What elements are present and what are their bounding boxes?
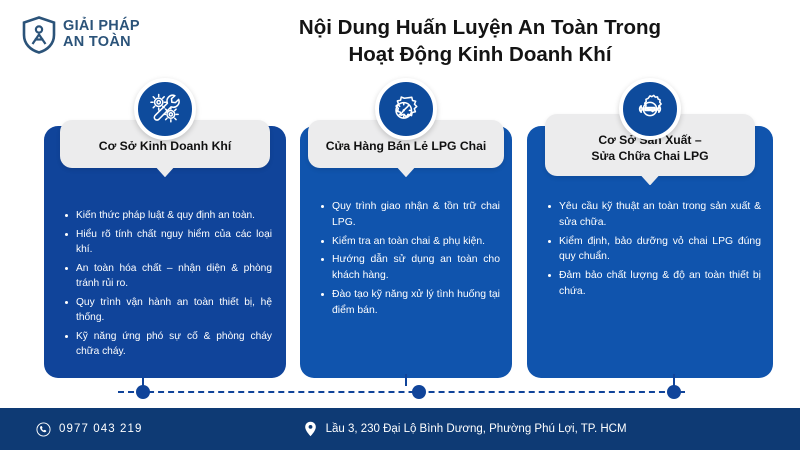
timeline-stem-2 <box>405 374 407 386</box>
card-title-line-1: Cơ Sở Kinh Doanh Khí <box>66 138 264 154</box>
list-item: Hiểu rõ tính chất nguy hiểm của các loại… <box>64 227 272 258</box>
timeline-connector <box>0 378 800 406</box>
list-item: Yêu cầu kỹ thuật an toàn trong sản xuất … <box>547 199 761 231</box>
bullet-list: Quy trình giao nhận & tồn trữ chai LPG. … <box>300 199 512 322</box>
list-item: Kỹ năng ứng phó sự cố & phòng cháy chữa … <box>64 329 272 360</box>
page-title: Nội Dung Huấn Luyện An Toàn Trong Hoạt Đ… <box>180 14 780 68</box>
gear-wrench-icon <box>632 91 668 127</box>
infographic-page: GIẢI PHÁP AN TOÀN Nội Dung Huấn Luyện An… <box>0 0 800 450</box>
card-title-line-1: Cửa Hàng Bán Lẻ LPG Chai <box>314 138 498 154</box>
card-title-line-2: Sửa Chữa Chai LPG <box>551 148 749 164</box>
logo-line-1: GIẢI PHÁP <box>63 19 140 35</box>
page-title-line-2: Hoạt Động Kinh Doanh Khí <box>180 41 780 68</box>
page-title-line-1: Nội Dung Huấn Luyện An Toàn Trong <box>180 14 780 41</box>
bullet-list: Kiến thức pháp luật & quy định an toàn. … <box>44 208 286 363</box>
list-item: Kiểm tra an toàn chai & phụ kiện. <box>320 234 500 250</box>
list-item: Hướng dẫn sử dụng an toàn cho khách hàng… <box>320 252 500 284</box>
icon-badge <box>375 78 437 140</box>
list-item: Quy trình giao nhận & tồn trữ chai LPG. <box>320 199 500 231</box>
footer-phone-text: 0977 043 219 <box>59 423 143 435</box>
icon-badge <box>134 78 196 140</box>
timeline-dot-2 <box>412 385 426 399</box>
list-item: Kiểm định, bảo dưỡng vỏ chai LPG đúng qu… <box>547 234 761 266</box>
list-item: Đào tạo kỹ năng xử lý tình huống tại điể… <box>320 287 500 319</box>
location-pin-icon <box>303 421 318 437</box>
bullet-list: Yêu cầu kỹ thuật an toàn trong sản xuất … <box>527 199 773 303</box>
wrench-gears-icon <box>147 91 183 127</box>
card-title: Cơ Sở Kinh Doanh Khí <box>66 138 264 154</box>
timeline-dot-3 <box>667 385 681 399</box>
card-title: Cửa Hàng Bán Lẻ LPG Chai <box>314 138 498 154</box>
timeline-dot-1 <box>136 385 150 399</box>
list-item: Kiến thức pháp luật & quy định an toàn. <box>64 208 272 224</box>
list-item: Đảm bảo chất lượng & độ an toàn thiết bị… <box>547 268 761 300</box>
shield-person-icon <box>22 16 56 54</box>
footer-bar: 0977 043 219 Lầu 3, 230 Đại Lộ Bình Dươn… <box>0 408 800 450</box>
list-item: Quy trình vận hành an toàn thiết bị, hệ … <box>64 295 272 326</box>
card-group: Kiến thức pháp luật & quy định an toàn. … <box>0 78 800 378</box>
gear-gauge-icon <box>388 91 424 127</box>
footer-phone[interactable]: 0977 043 219 <box>36 422 143 437</box>
phone-circle-icon <box>36 422 51 437</box>
timeline-dashed-line <box>118 391 685 393</box>
logo-line-2: AN TOÀN <box>63 35 140 51</box>
list-item: An toàn hóa chất – nhận diện & phòng trá… <box>64 261 272 292</box>
icon-badge <box>619 78 681 140</box>
footer-address[interactable]: Lầu 3, 230 Đại Lộ Bình Dương, Phường Phú… <box>303 421 627 437</box>
footer-address-text: Lầu 3, 230 Đại Lộ Bình Dương, Phường Phú… <box>326 423 627 435</box>
brand-logo: GIẢI PHÁP AN TOÀN <box>22 16 140 54</box>
